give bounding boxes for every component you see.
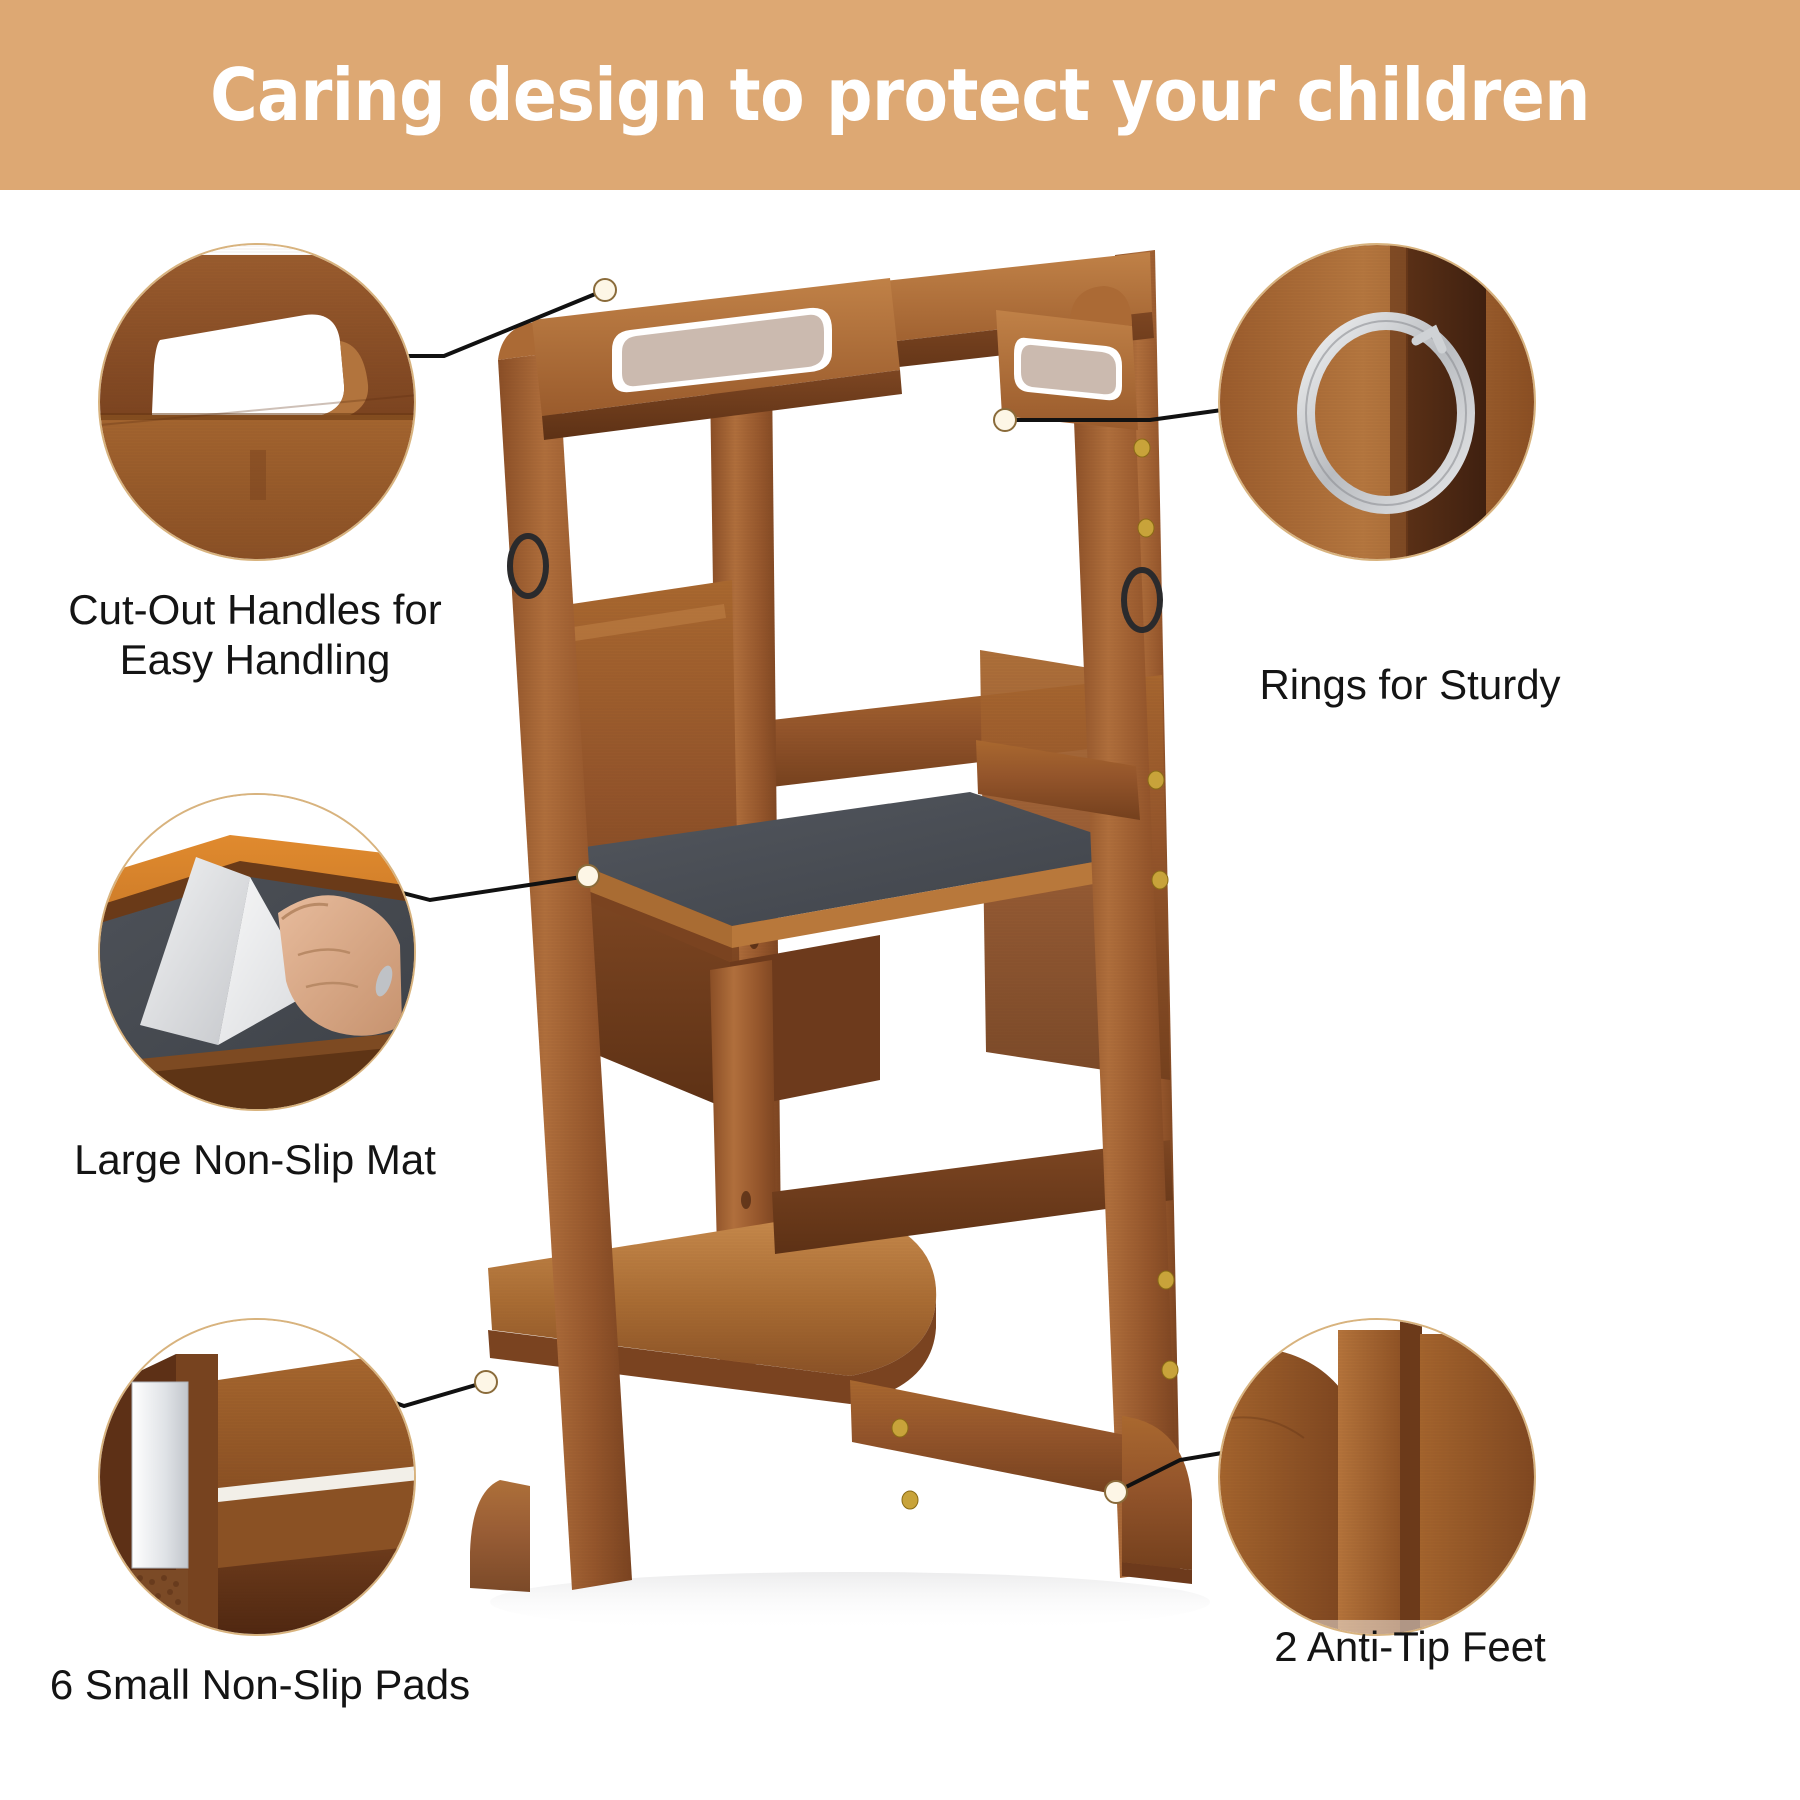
non-slip-pad-icon xyxy=(100,1320,416,1636)
callout-circle-non-slip-pads xyxy=(98,1318,416,1636)
callout-label-anti-tip-feet: 2 Anti-Tip Feet xyxy=(1175,1622,1645,1672)
callout-label-cut-out-handles: Cut-Out Handles for Easy Handling xyxy=(30,585,480,684)
callout-circle-large-non-slip-mat xyxy=(98,793,416,1111)
handle-cutout-icon xyxy=(100,245,416,561)
callout-circle-anti-tip-feet xyxy=(1218,1318,1536,1636)
callout-label-large-non-slip-mat: Large Non-Slip Mat xyxy=(30,1135,480,1185)
callout-label-rings-for-sturdy: Rings for Sturdy xyxy=(1175,660,1645,710)
anti-tip-foot-icon xyxy=(1220,1320,1536,1636)
page-title: Caring design to protect your children xyxy=(210,53,1590,137)
product-image-learning-tower xyxy=(380,180,1280,1660)
callout-circle-rings-for-sturdy xyxy=(1218,243,1536,561)
infographic-stage: Caring design to protect your children xyxy=(0,0,1800,1800)
metal-ring-icon xyxy=(1220,245,1536,561)
callout-circle-cut-out-handles xyxy=(98,243,416,561)
callout-label-non-slip-pads: 6 Small Non-Slip Pads xyxy=(20,1660,500,1710)
peeling-mat-icon xyxy=(100,795,416,1111)
header-banner: Caring design to protect your children xyxy=(0,0,1800,190)
